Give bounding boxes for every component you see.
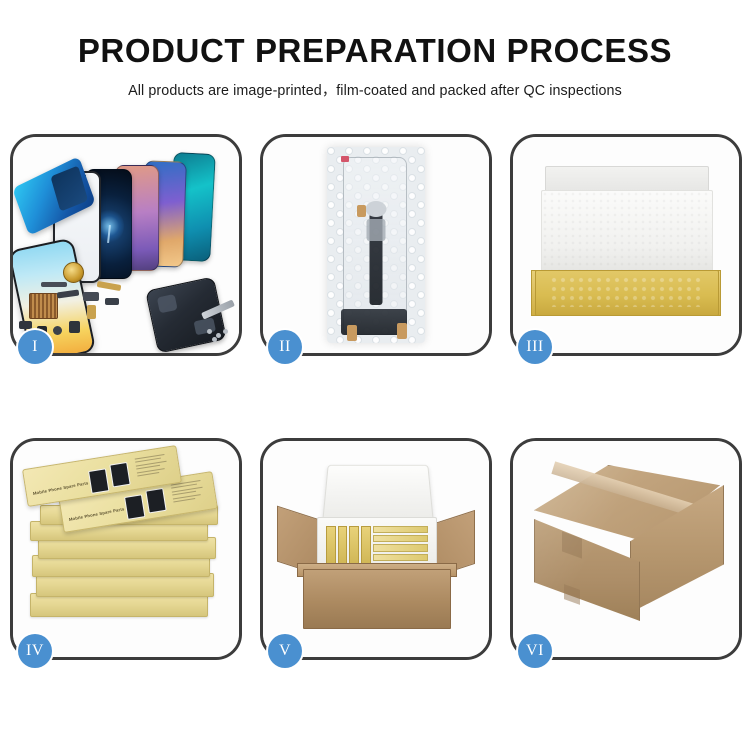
process-step-panel-5[interactable]: V [260, 438, 492, 660]
step-badge-2: II [268, 330, 302, 364]
box-lid-phone-img-2b [145, 488, 166, 514]
step-badge-5: V [268, 634, 302, 668]
process-step-panel-2[interactable]: II [260, 134, 492, 356]
foam-lid [322, 465, 434, 525]
step-badge-6: VI [518, 634, 552, 668]
red-sticker [341, 156, 349, 162]
process-step-panel-6[interactable]: VI [510, 438, 742, 660]
tape-piece-2 [397, 323, 407, 339]
process-step-panel-1[interactable]: I [10, 134, 242, 356]
small-part-j [87, 305, 96, 319]
sealed-shipping-carton [528, 461, 724, 637]
small-part-e [53, 326, 62, 335]
connector-part [83, 292, 99, 301]
step-4-image: Mobile Phone Spare Parts Mobile Phone Sp… [13, 441, 239, 657]
bubble-wrap-package [327, 147, 425, 343]
box-tray [535, 270, 719, 316]
box-lid-label-1: Mobile Phone Spare Parts [32, 480, 88, 496]
small-part-c [19, 321, 32, 329]
box-lid-phone-img-1b [109, 462, 130, 488]
process-step-grid: I II [10, 134, 742, 660]
foam-sheet [541, 190, 713, 278]
screws-group [207, 329, 229, 341]
page-title: PRODUCT PREPARATION PROCESS [0, 32, 750, 70]
page-subtitle: All products are image-printed，film-coat… [0, 79, 750, 100]
box-lid-phone-img-2a [124, 494, 145, 520]
tape-piece-1 [347, 325, 357, 341]
box-lid-phone-img-1a [88, 468, 109, 494]
step-2-image [263, 137, 489, 353]
step-1-image [13, 137, 239, 353]
stacked-boxes: Mobile Phone Spare Parts Mobile Phone Sp… [26, 459, 226, 639]
foam-texture [542, 191, 712, 277]
gold-coil-part [63, 262, 84, 283]
small-part-h [105, 298, 119, 305]
step-6-image [513, 441, 739, 657]
speaker-mesh-part [41, 282, 67, 287]
gold-flex-part [97, 281, 122, 291]
page-header: PRODUCT PREPARATION PROCESS All products… [0, 0, 750, 100]
screen-flex-cable [370, 213, 383, 305]
step-badge-1: I [18, 330, 52, 364]
step-badge-3: III [518, 330, 552, 364]
box-lid-spec-lines-2 [171, 479, 208, 508]
tape-piece-3 [357, 205, 366, 217]
box-lid-spec-lines-1 [135, 453, 172, 482]
carton-body [303, 569, 451, 629]
box-lid-label-2: Mobile Phone Spare Parts [68, 506, 124, 522]
step-3-image [513, 137, 739, 353]
open-carton-with-foam [281, 459, 471, 639]
small-part-f [69, 321, 80, 333]
process-step-panel-4[interactable]: Mobile Phone Spare Parts Mobile Phone Sp… [10, 438, 242, 660]
step-badge-4: IV [18, 634, 52, 668]
open-kraft-box [531, 160, 721, 330]
process-step-panel-3[interactable]: III [510, 134, 742, 356]
chip-array [29, 293, 58, 319]
step-5-image [263, 441, 489, 657]
bubble-wrapped-contents [550, 276, 704, 307]
